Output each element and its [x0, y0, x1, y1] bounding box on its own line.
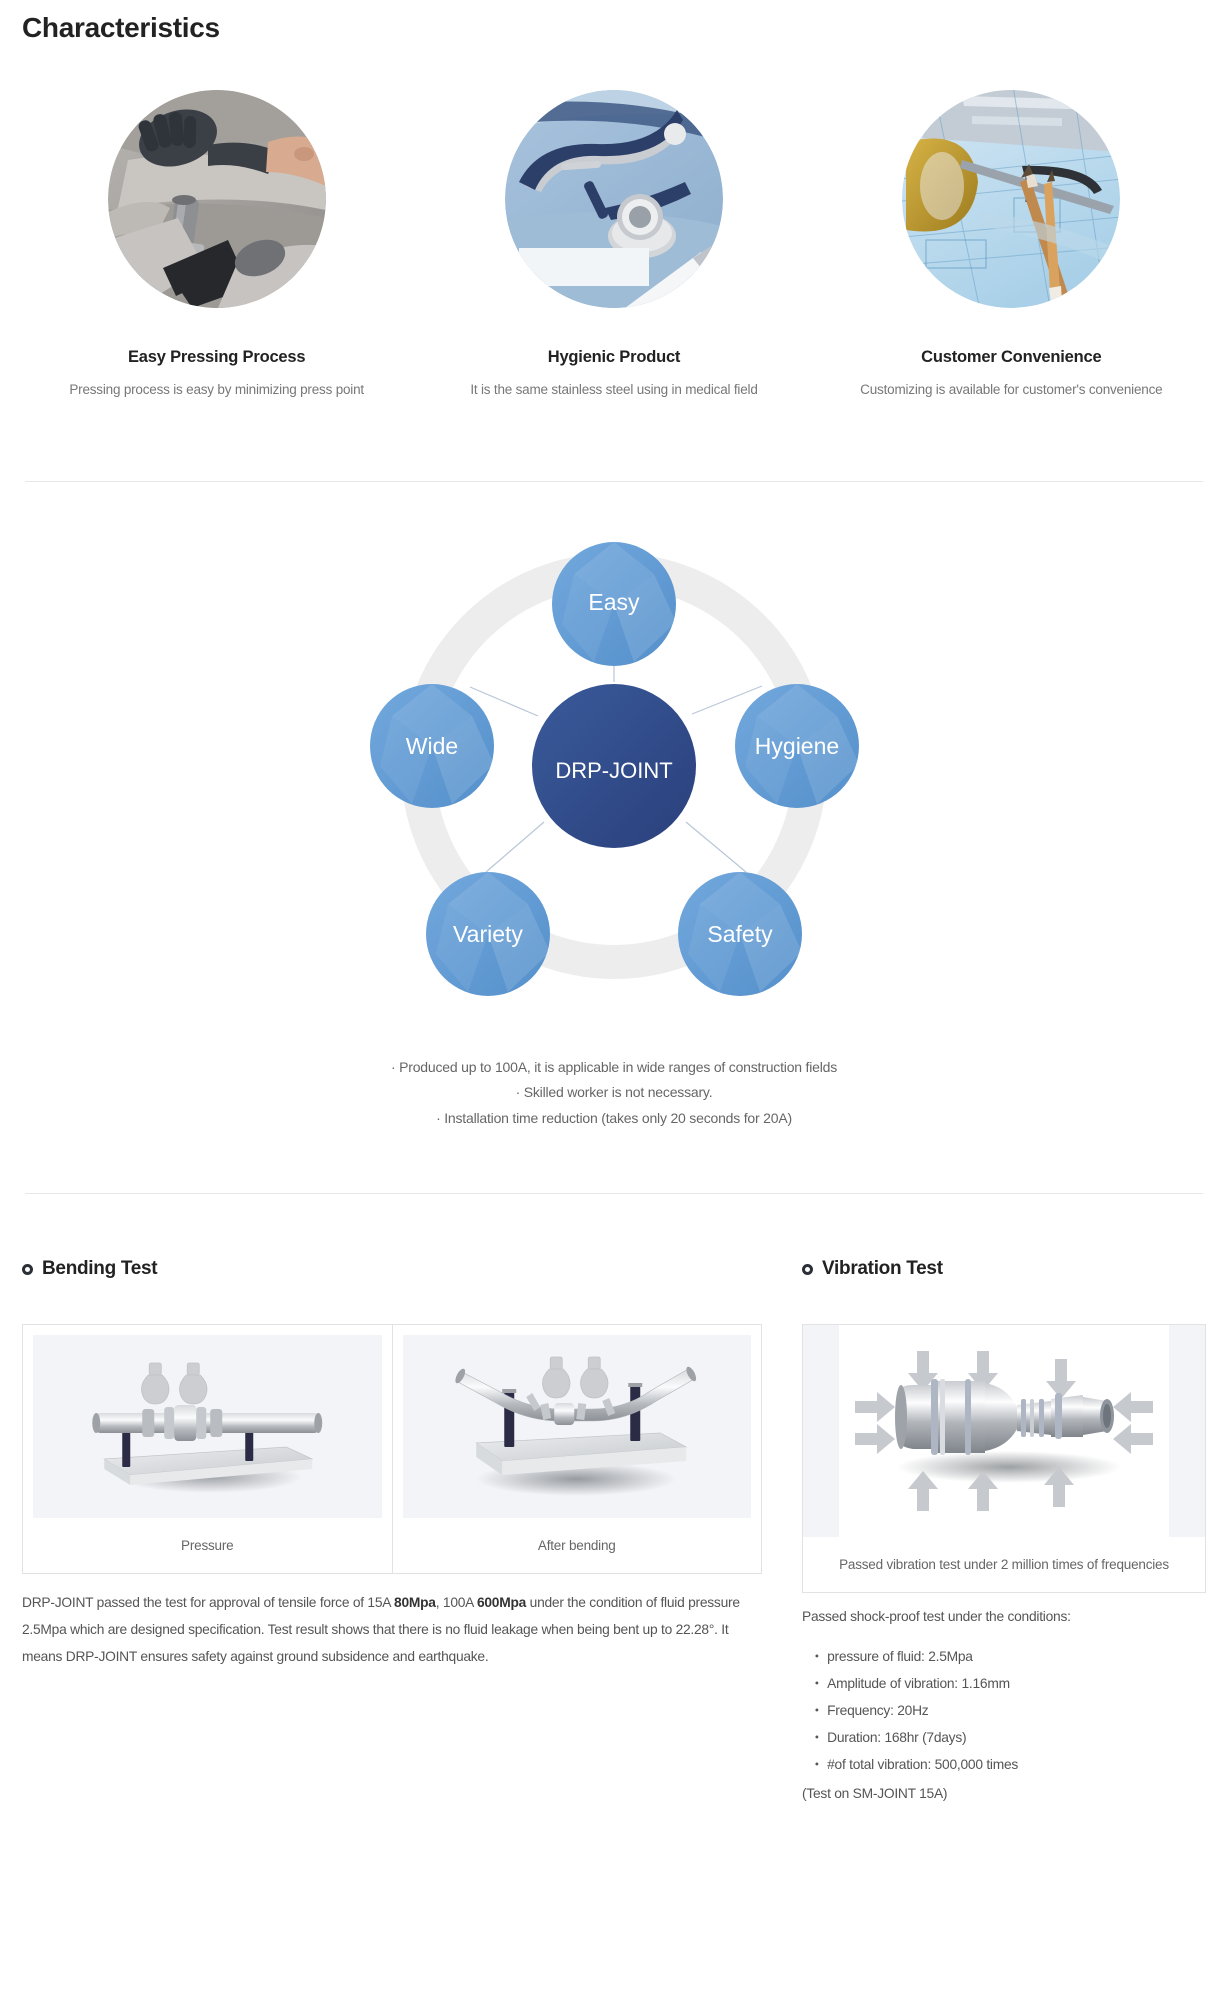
feature-item: Customer Convenience Customizing is avai… — [813, 90, 1210, 397]
feature-desc: It is the same stainless steel using in … — [415, 382, 812, 397]
diagram-node-variety: Variety — [426, 872, 550, 996]
diagram-node-safety: Safety — [678, 872, 802, 996]
diagram-bullet: · Produced up to 100A, it is applicable … — [0, 1055, 1228, 1080]
feature-item: Easy Pressing Process Pressing process i… — [18, 90, 415, 397]
vibration-test-heading: Vibration Test — [802, 1258, 1206, 1280]
vibration-test-lead: Passed shock-proof test under the condit… — [802, 1609, 1206, 1624]
pipe-on-stand-pressure-illustration — [33, 1335, 382, 1518]
bending-test-heading: Bending Test — [22, 1258, 762, 1280]
panel-caption: After bending — [538, 1518, 616, 1573]
worker-pressing-pipe-photo — [108, 90, 326, 308]
stethoscope-medical-photo — [505, 90, 723, 308]
vibration-test-panel: Passed vibration test under 2 million ti… — [802, 1324, 1206, 1593]
condition-item: ・ pressure of fluid: 2.5Mpa — [802, 1644, 1206, 1671]
diagram-node-easy: Easy — [552, 542, 676, 666]
feature-desc: Pressing process is easy by minimizing p… — [18, 382, 415, 397]
ring-bullet-icon — [802, 1264, 813, 1275]
pipe-bent-on-stand-illustration — [403, 1335, 752, 1518]
tests-section: Bending Test — [0, 1258, 1228, 1807]
condition-item: ・ Amplitude of vibration: 1.16mm — [802, 1671, 1206, 1698]
page-title: Characteristics — [0, 0, 1228, 44]
diagram-node-label: Hygiene — [755, 733, 839, 759]
vibration-test-note: (Test on SM-JOINT 15A) — [802, 1781, 1206, 1808]
diagram-node-label: Variety — [453, 921, 523, 947]
vibration-test-column: Vibration Test — [802, 1258, 1206, 1807]
panel-caption: Passed vibration test under 2 million ti… — [803, 1537, 1205, 1592]
bending-para-part2: , 100A — [436, 1595, 477, 1610]
bending-test-column: Bending Test — [22, 1258, 762, 1807]
feature-title: Customer Convenience — [813, 348, 1210, 367]
bending-test-panel: Pressure — [22, 1324, 762, 1574]
feature-title: Easy Pressing Process — [18, 348, 415, 367]
pipe-joint-compression-arrows-illustration — [803, 1325, 1205, 1537]
ring-bullet-icon — [22, 1264, 33, 1275]
diagram-node-label: Safety — [707, 921, 773, 947]
diagram-center-label: DRP-JOINT — [555, 758, 672, 783]
feature-title: Hygienic Product — [415, 348, 812, 367]
panel-caption: Pressure — [181, 1518, 233, 1573]
condition-item: ・ Duration: 168hr (7days) — [802, 1725, 1206, 1752]
diagram-node-wide: Wide — [370, 684, 494, 808]
condition-item: ・ Frequency: 20Hz — [802, 1698, 1206, 1725]
drp-joint-diagram: DRP-JOINT Easy Hygiene Safety — [294, 504, 934, 1049]
vibration-test-heading-label: Vibration Test — [822, 1258, 943, 1280]
bending-para-bold2: 600Mpa — [477, 1595, 526, 1610]
bending-test-heading-label: Bending Test — [42, 1258, 157, 1280]
diagram-node-label: Easy — [588, 589, 640, 615]
drp-joint-diagram-wrap: DRP-JOINT Easy Hygiene Safety — [0, 482, 1228, 1049]
diagram-bullet: · Skilled worker is not necessary. — [0, 1080, 1228, 1105]
diagram-bullet: · Installation time reduction (takes onl… — [0, 1106, 1228, 1131]
diagram-node-hygiene: Hygiene — [735, 684, 859, 808]
features-row: Easy Pressing Process Pressing process i… — [0, 90, 1228, 397]
feature-desc: Customizing is available for customer's … — [813, 382, 1210, 397]
condition-item: ・ #of total vibration: 500,000 times — [802, 1752, 1206, 1779]
diagram-node-label: Wide — [406, 733, 458, 759]
bending-test-cell: After bending — [392, 1325, 762, 1573]
bending-test-cell: Pressure — [23, 1325, 392, 1573]
bending-para-bold1: 80Mpa — [394, 1595, 436, 1610]
diagram-bullet-list: · Produced up to 100A, it is applicable … — [0, 1055, 1228, 1131]
vibration-test-conditions: ・ pressure of fluid: 2.5Mpa ・ Amplitude … — [802, 1644, 1206, 1807]
section-divider — [25, 1193, 1203, 1194]
feature-item: Hygienic Product It is the same stainles… — [415, 90, 812, 397]
blueprint-hardhat-pencil-photo — [902, 90, 1120, 308]
bending-para-part1: DRP-JOINT passed the test for approval o… — [22, 1595, 394, 1610]
bending-test-paragraph: DRP-JOINT passed the test for approval o… — [22, 1590, 762, 1671]
